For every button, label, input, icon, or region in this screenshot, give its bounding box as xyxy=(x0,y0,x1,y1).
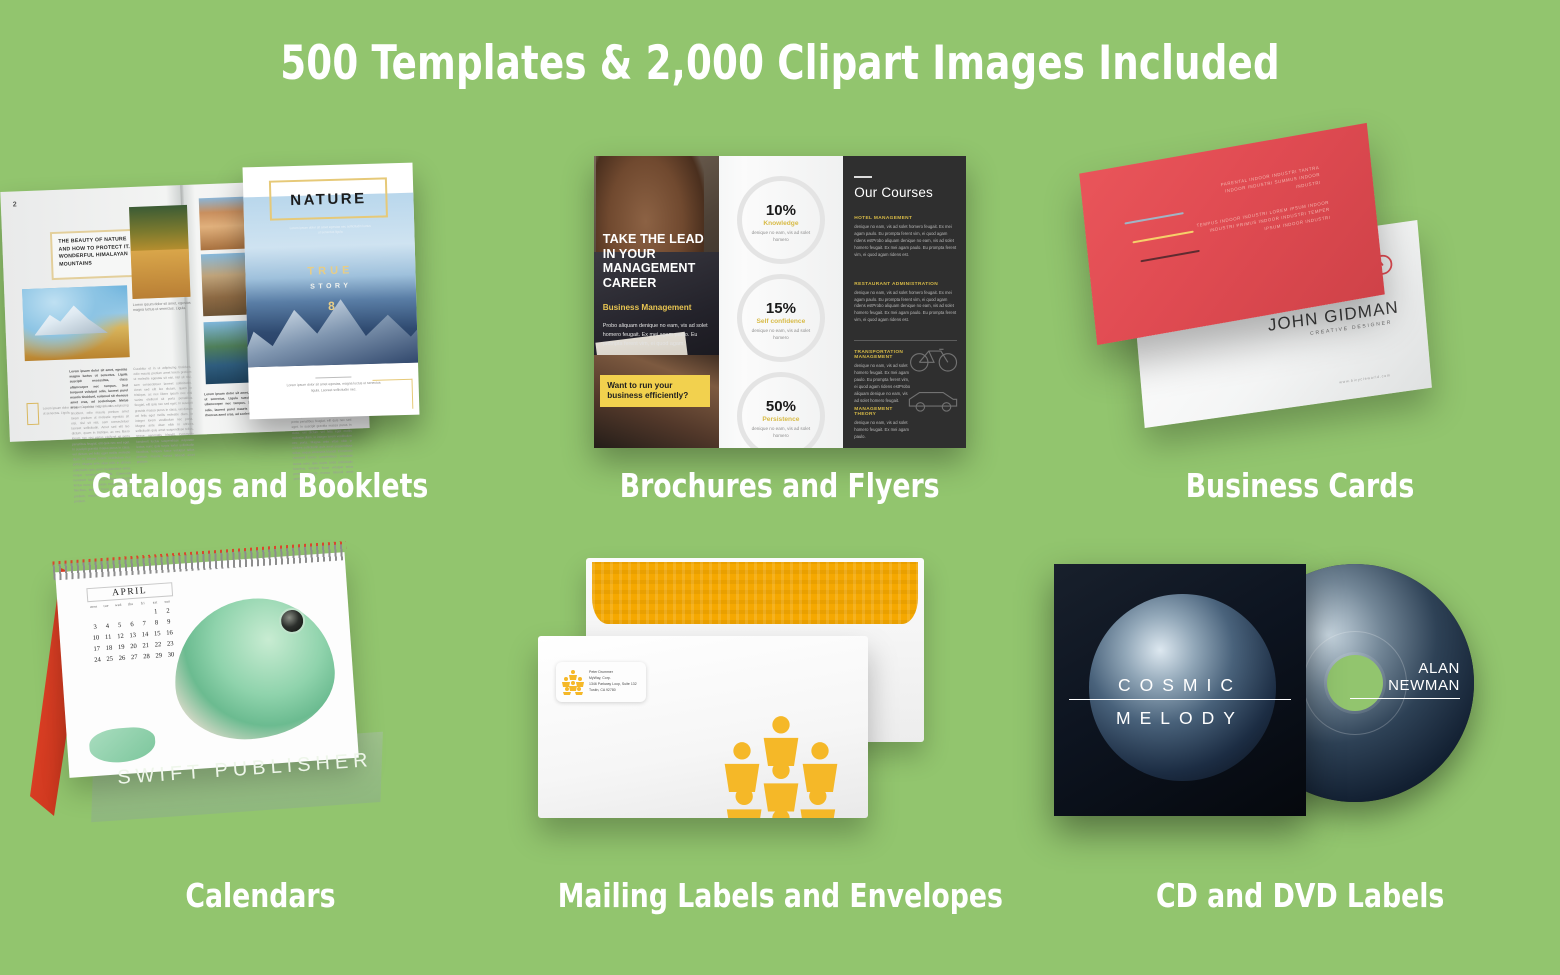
calendar-day[interactable]: 19 xyxy=(115,642,128,653)
showcase-page: 500 Templates & 2,000 Clipart Images Inc… xyxy=(0,0,1560,975)
donut-desc-2: denique no eam, vis ad solet homero xyxy=(749,328,813,342)
calendar-day[interactable]: 27 xyxy=(128,652,141,663)
card-back-text-top: PARENTAL INDOOR INDUSTRI TANTRA INDOOR I… xyxy=(1201,164,1322,207)
calendar-weekday: sat xyxy=(149,600,162,605)
calendar-mockup: APRIL montuewedthufrisatsun 123456789101… xyxy=(0,550,520,870)
course-title-4: MANAGEMENT THEORY xyxy=(854,407,913,417)
calendar-day[interactable]: 17 xyxy=(90,644,103,655)
brochure-stat-donut-3: 50% Persistence denique no eam, vis ad s… xyxy=(737,372,825,448)
product-cell-catalogs[interactable]: 2 THE BEAUTY OF NATURE AND HOW TO PROTEC… xyxy=(0,140,520,550)
calendar-day[interactable]: 8 xyxy=(150,618,163,629)
calendar-weekday: mon xyxy=(88,604,101,609)
calendar-page: APRIL montuewedthufrisatsun 123456789101… xyxy=(55,552,359,778)
catalog-marker xyxy=(26,403,39,425)
cd-artist-line-2: NEWMAN xyxy=(1350,677,1460,694)
calendar-day[interactable]: 29 xyxy=(152,650,165,661)
product-cell-business-cards[interactable]: BICYCLE WORLD JOHN GIDMAN CREATIVE DESIG… xyxy=(1040,140,1560,550)
calendar-day[interactable]: 9 xyxy=(162,617,175,628)
bicycle-icon xyxy=(908,343,960,373)
page-title: 500 Templates & 2,000 Clipart Images Inc… xyxy=(94,36,1467,91)
cover-subtitle: Lorem ipsum dolor sit amet egestas nec s… xyxy=(288,224,372,237)
calendar-day-empty xyxy=(125,609,138,620)
card-accent-line-3 xyxy=(1140,250,1199,262)
brochure-headline: TAKE THE LEAD IN YOUR MANAGEMENT CAREER xyxy=(603,232,713,290)
frog-leg xyxy=(88,726,156,765)
course-body-3: denique no eam, vis ad solet homero feug… xyxy=(854,363,913,405)
calendar-weekday: wed xyxy=(112,603,125,608)
calendar-day[interactable]: 1 xyxy=(149,607,162,618)
caption-business-cards: Business Cards xyxy=(1186,466,1415,505)
brochure-cta-banner: Want to run your business efficiently? xyxy=(600,375,710,408)
calendar-weekday: thu xyxy=(124,602,137,607)
mailing-label-text: Peter Drummer MyWay, Corp. 1346 Parkway … xyxy=(589,670,637,693)
brochure-panel-stats: 10% Knowledge denique no eam, vis ad sol… xyxy=(719,156,844,448)
course-body-2: denique no eam, vis ad solet homero feug… xyxy=(854,290,957,325)
course-title-1: HOTEL MANAGEMENT xyxy=(854,216,957,221)
people-graphic xyxy=(716,714,846,818)
business-card-mockup: BICYCLE WORLD JOHN GIDMAN CREATIVE DESIG… xyxy=(1040,140,1560,460)
envelope-front: Peter Drummer MyWay, Corp. 1346 Parkway … xyxy=(538,636,868,818)
calendar-day[interactable]: 30 xyxy=(165,650,178,661)
calendar-weekday: tue xyxy=(100,603,113,608)
calendar-weekday: fri xyxy=(137,601,150,606)
envelope-mockup: Peter Drummer MyWay, Corp. 1346 Parkway … xyxy=(520,550,1040,870)
card-accent-line-1 xyxy=(1124,212,1183,224)
calendar-day-empty xyxy=(113,610,126,621)
course-body-1: denique no eam, vis ad solet homero feug… xyxy=(854,224,957,259)
donut-label-2: Self confidence xyxy=(737,318,825,325)
calendar-day-empty xyxy=(137,608,150,619)
brochure-title-rule xyxy=(854,176,872,178)
course-body-4: denique no eam, vis ad solet homero feug… xyxy=(854,420,913,441)
cover-footer-text: Lorem ipsum dolor sit amet egestas, magn… xyxy=(284,380,384,395)
brochure-course-3: TRANSPORTATION MANAGEMENT denique no eam… xyxy=(854,350,913,405)
people-cluster-icon xyxy=(561,669,585,695)
catalog-article-heading: THE BEAUTY OF NATURE AND HOW TO PROTECT … xyxy=(58,236,135,269)
brochure-course-1: HOTEL MANAGEMENT denique no eam, vis ad … xyxy=(854,216,957,259)
donut-value-1: 10% xyxy=(737,202,825,219)
calendar-day[interactable]: 23 xyxy=(164,639,177,650)
brochure-panel-cover: TAKE THE LEAD IN YOUR MANAGEMENT CAREER … xyxy=(594,156,719,448)
envelope-flap xyxy=(592,562,918,624)
calendar-day[interactable]: 25 xyxy=(103,654,116,665)
cd-title-line-2: MELODY xyxy=(1054,708,1306,729)
donut-value-2: 15% xyxy=(737,300,825,317)
brochure-trifold: TAKE THE LEAD IN YOUR MANAGEMENT CAREER … xyxy=(594,156,966,448)
donut-desc-3: denique no eam, vis ad solet homero xyxy=(749,426,813,440)
calendar-day[interactable]: 15 xyxy=(151,629,164,640)
calendar-day[interactable]: 7 xyxy=(138,619,151,630)
calendar-day[interactable]: 16 xyxy=(163,628,176,639)
cd-artist-line-1: ALAN xyxy=(1350,660,1460,677)
brochure-stat-donut-1: 10% Knowledge denique no eam, vis ad sol… xyxy=(737,176,825,264)
business-card-website: www.bicycleworld.com xyxy=(1339,373,1391,384)
cover-corner-ornament xyxy=(372,379,413,410)
cover-title: NATURE xyxy=(290,189,367,208)
brochure-stat-donut-2: 15% Self confidence denique no eam, vis … xyxy=(737,274,825,362)
cd-artist-block: ALAN NEWMAN xyxy=(1350,660,1460,699)
brochure-subheadline: Business Management xyxy=(603,303,715,312)
calendar-day[interactable]: 6 xyxy=(126,620,139,631)
calendar-day[interactable]: 26 xyxy=(116,653,129,664)
brochure-panel-courses: Our Courses HOTEL MANAGEMENT denique no … xyxy=(843,156,966,448)
product-cell-calendars[interactable]: APRIL montuewedthufrisatsun 123456789101… xyxy=(0,550,520,960)
calendar-day[interactable]: 18 xyxy=(103,643,116,654)
brochure-body: Probo aliquam denique no eam, vis ad sol… xyxy=(603,322,713,348)
cover-title-box: NATURE xyxy=(269,177,388,220)
calendar-day[interactable]: 12 xyxy=(114,631,127,642)
calendar-day-empty xyxy=(100,610,113,621)
calendar-day[interactable]: 20 xyxy=(127,641,140,652)
course-title-3: TRANSPORTATION MANAGEMENT xyxy=(854,350,913,360)
calendar-day[interactable]: 3 xyxy=(89,622,102,633)
catalog-page-number: 2 xyxy=(13,201,17,208)
catalog-photo-caption: Lorem ipsum dolor sit amet, egestas magn… xyxy=(133,301,191,314)
caption-calendars: Calendars xyxy=(185,876,335,915)
calendar-day[interactable]: 21 xyxy=(139,640,152,651)
catalog-mockup: 2 THE BEAUTY OF NATURE AND HOW TO PROTEC… xyxy=(0,140,520,460)
product-cell-brochures[interactable]: TAKE THE LEAD IN YOUR MANAGEMENT CAREER … xyxy=(520,140,1040,550)
caption-brochures: Brochures and Flyers xyxy=(620,466,940,505)
caption-catalogs: Catalogs and Booklets xyxy=(92,466,429,505)
brochure-course-4: MANAGEMENT THEORY denique no eam, vis ad… xyxy=(854,407,913,441)
calendar-weekday: sun xyxy=(161,599,174,604)
car-icon xyxy=(906,387,960,415)
brochure-divider xyxy=(854,340,957,341)
course-title-2: RESTAURANT ADMINISTRATION xyxy=(854,282,957,287)
cd-title-line-1: COSMIC xyxy=(1054,675,1306,696)
cd-title-rule xyxy=(1069,699,1291,700)
brochure-course-2: RESTAURANT ADMINISTRATION denique no eam… xyxy=(854,282,957,325)
catalog-body-text-2: Curabitur et in ut adipiscing tincidunt,… xyxy=(133,365,194,465)
donut-desc-1: denique no eam, vis ad solet homero xyxy=(749,230,813,244)
caption-cd-dvd: CD and DVD Labels xyxy=(1156,876,1444,915)
product-cell-cd-dvd[interactable]: ALAN NEWMAN COSMIC MELODY CD and DVD Lab… xyxy=(1040,550,1560,960)
brochure-panel-title: Our Courses xyxy=(854,185,933,200)
catalog-photo-autumn xyxy=(129,205,190,299)
label-city: Tustin, CA 92780 xyxy=(589,688,637,694)
calendar-day-empty xyxy=(88,611,101,622)
cd-dvd-mockup: ALAN NEWMAN COSMIC MELODY xyxy=(1040,550,1560,870)
donut-value-3: 50% xyxy=(737,398,825,415)
calendar-day[interactable]: 24 xyxy=(91,655,104,666)
label-street: 1346 Parkway Loop, Suite 132 xyxy=(589,682,637,688)
donut-label-3: Persistence xyxy=(737,416,825,423)
brochure-mockup: TAKE THE LEAD IN YOUR MANAGEMENT CAREER … xyxy=(520,140,1040,460)
calendar-day[interactable]: 14 xyxy=(139,630,152,641)
calendar-day[interactable]: 22 xyxy=(152,640,165,651)
product-cell-envelopes[interactable]: Peter Drummer MyWay, Corp. 1346 Parkway … xyxy=(520,550,1040,960)
mailing-label: Peter Drummer MyWay, Corp. 1346 Parkway … xyxy=(556,662,646,702)
card-accent-line-2 xyxy=(1132,231,1193,243)
calendar-photo-frog xyxy=(170,593,339,744)
calendar-day[interactable]: 13 xyxy=(126,630,139,641)
catalog-cover: NATURE Lorem ipsum dolor sit amet egesta… xyxy=(243,163,420,420)
catalog-photo-mountain xyxy=(22,285,130,361)
calendar-grid: APRIL montuewedthufrisatsun 123456789101… xyxy=(86,582,177,665)
cd-sleeve: COSMIC MELODY xyxy=(1054,564,1306,816)
card-back-text-bottom: TEMPUS INDOOR INDUSTRI LOREM IPSUM INDOO… xyxy=(1195,199,1331,245)
calendar-spiral-binding xyxy=(53,544,347,580)
calendar-day[interactable]: 11 xyxy=(102,632,115,643)
donut-label-1: Knowledge xyxy=(737,220,825,227)
calendar-day[interactable]: 2 xyxy=(162,606,175,617)
calendar-day[interactable]: 5 xyxy=(113,620,126,631)
calendar-day[interactable]: 4 xyxy=(101,621,114,632)
catalog-column-2: Curabitur et in ut adipiscing tincidunt,… xyxy=(133,365,195,466)
product-grid: 2 THE BEAUTY OF NATURE AND HOW TO PROTEC… xyxy=(0,140,1560,960)
caption-envelopes: Mailing Labels and Envelopes xyxy=(557,876,1002,915)
cover-footer: Lorem ipsum dolor sit amet egestas, magn… xyxy=(283,376,383,395)
calendar-days-grid: 1234567891011121314151617181920212223242… xyxy=(88,606,178,665)
calendar-day[interactable]: 10 xyxy=(90,633,103,644)
cd-artist-underline xyxy=(1350,698,1460,699)
cover-footer-rule xyxy=(315,376,351,378)
calendar-day[interactable]: 28 xyxy=(140,651,153,662)
